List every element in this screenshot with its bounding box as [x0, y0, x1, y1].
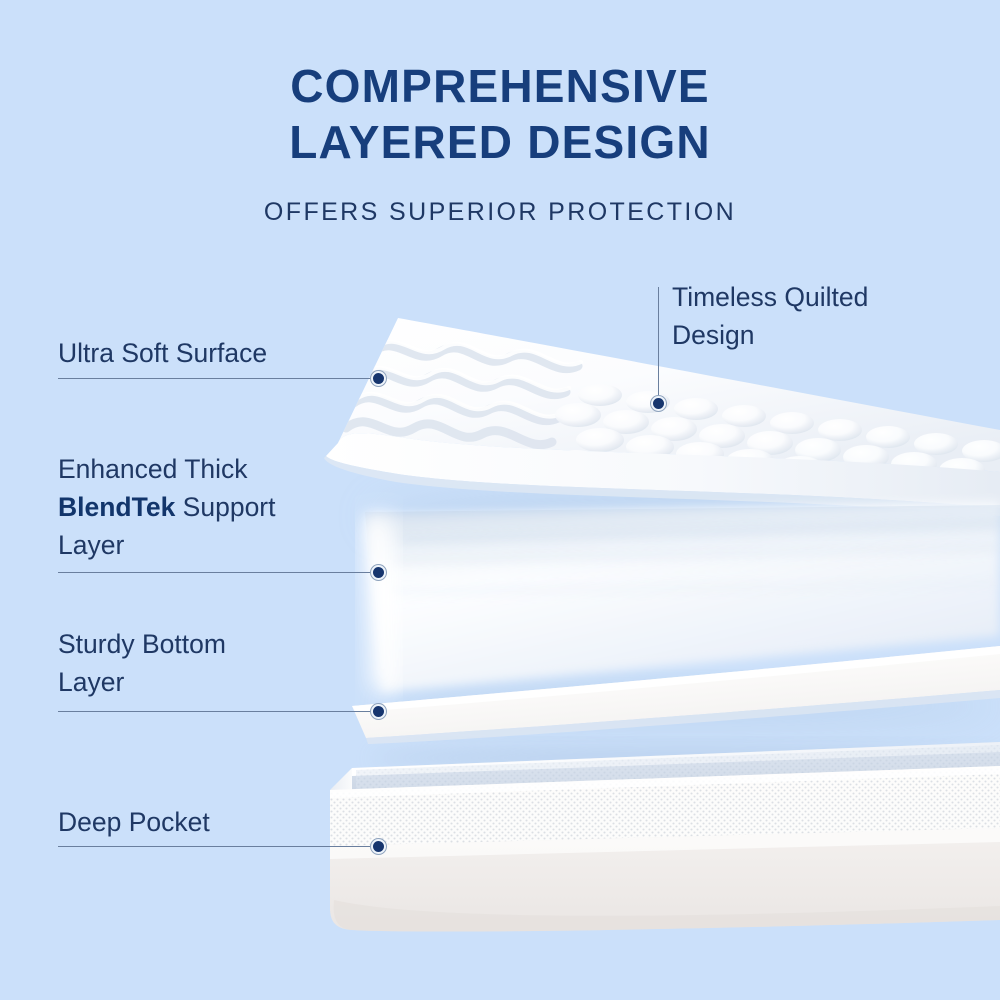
page-subtitle: OFFERS SUPERIOR PROTECTION [0, 198, 1000, 227]
callout-timeless-quilted: Timeless Quilted Design [672, 278, 972, 354]
page-title-line-2: LAYERED DESIGN [0, 114, 1000, 170]
callout-label-blendtek-line-2: BlendTek Support [58, 488, 388, 526]
leader-dot-deep-pocket [371, 839, 386, 854]
leader-dot-ultra-soft-surface [371, 371, 386, 386]
poster-header: COMPREHENSIVE LAYERED DESIGN OFFERS SUPE… [0, 58, 1000, 227]
callout-label-blendtek-line-1: Enhanced Thick [58, 450, 388, 488]
brand-name-blendtek: BlendTek [58, 492, 175, 522]
callout-label-timeless-line-1: Timeless Quilted [672, 278, 972, 316]
leader-line-blendtek-support [58, 572, 378, 573]
deep-pocket-box [330, 742, 1000, 932]
callout-label-ultra-soft-surface: Ultra Soft Surface [58, 334, 388, 372]
leader-line-deep-pocket [58, 846, 378, 847]
callout-label-deep-pocket: Deep Pocket [58, 803, 388, 841]
callout-label-timeless-line-2: Design [672, 316, 972, 354]
leader-line-timeless-quilted [658, 287, 659, 399]
infographic-poster: COMPREHENSIVE LAYERED DESIGN OFFERS SUPE… [0, 0, 1000, 1000]
callout-label-sturdy-line-1: Sturdy Bottom [58, 625, 388, 663]
leader-line-ultra-soft-surface [58, 378, 378, 379]
callout-sturdy-bottom-layer: Sturdy Bottom Layer [58, 625, 388, 701]
callout-deep-pocket: Deep Pocket [58, 803, 388, 841]
page-title-line-1: COMPREHENSIVE [0, 58, 1000, 114]
callout-label-blendtek-suffix: Support [175, 492, 275, 522]
callout-label-blendtek-line-3: Layer [58, 526, 388, 564]
leader-dot-blendtek-support [371, 565, 386, 580]
callout-ultra-soft-surface: Ultra Soft Surface [58, 334, 388, 372]
leader-dot-sturdy-bottom-layer [371, 704, 386, 719]
leader-dot-timeless-quilted [651, 396, 666, 411]
leader-line-sturdy-bottom-layer [58, 711, 378, 712]
callout-label-sturdy-line-2: Layer [58, 663, 388, 701]
callout-blendtek-support: Enhanced Thick BlendTek Support Layer [58, 450, 388, 564]
